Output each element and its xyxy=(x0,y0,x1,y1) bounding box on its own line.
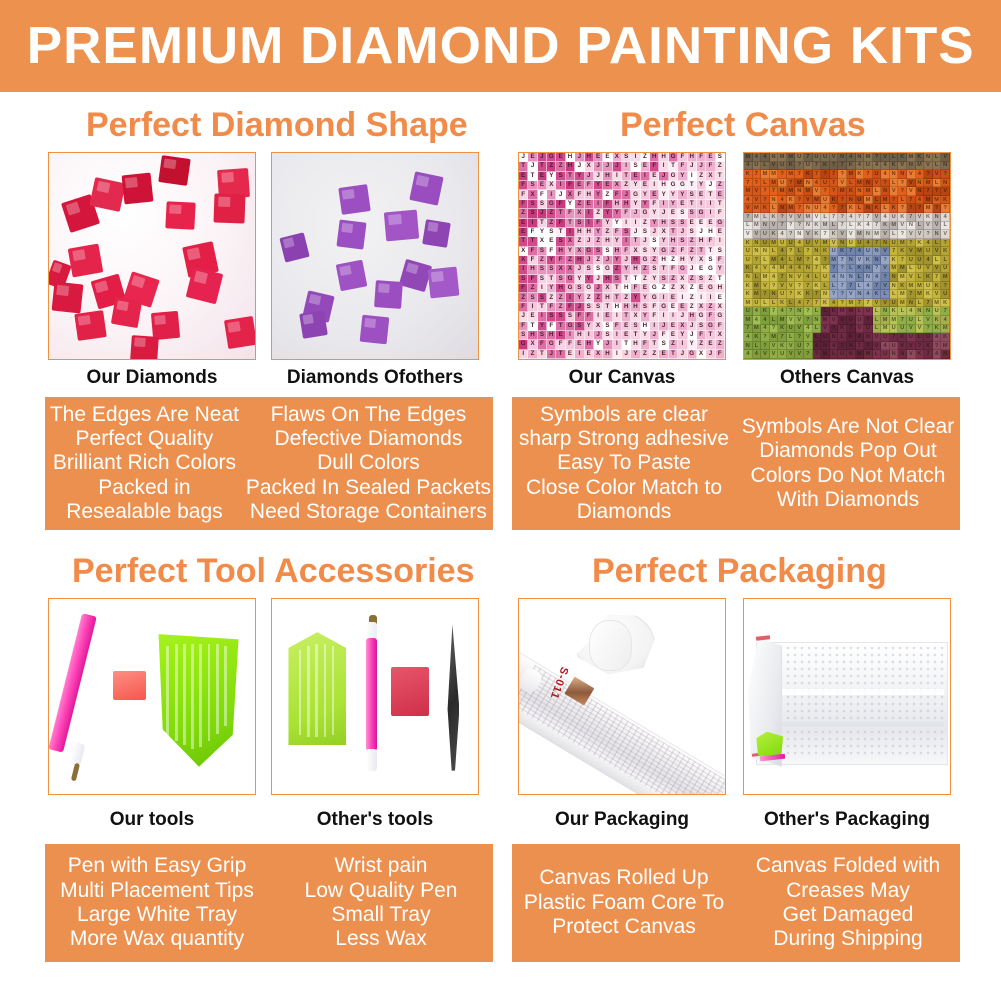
panel-column-ours: Pen with Easy Grip Multi Placement Tips … xyxy=(45,844,269,962)
panel-line: Brilliant Rich Colors xyxy=(53,451,236,475)
caption-our-diamonds: Our Diamonds xyxy=(48,368,256,387)
panel-line: Low Quality Pen xyxy=(305,879,458,903)
caption-others-tools: Other's tools xyxy=(271,810,479,829)
image-our-diamonds xyxy=(48,152,256,360)
panel-line: Symbols are clear xyxy=(540,403,708,427)
panel-line: Resealable bags xyxy=(66,500,222,524)
image-our-canvas: JEJGEHJHEEXSIZHHGFHFESTJTZZHJXJJJISEFITF… xyxy=(518,152,726,360)
panel-line: Plastic Foam Core To xyxy=(524,891,724,915)
panel-line: More Wax quantity xyxy=(70,927,244,951)
panel-line: Get Damaged xyxy=(783,903,914,927)
panel-column-ours: The Edges Are Neat Perfect Quality Brill… xyxy=(45,397,244,530)
panel-line: Defective Diamonds xyxy=(274,427,462,451)
panel-line: Less Wax xyxy=(335,927,426,951)
panel-line: Diamonds Pop Out xyxy=(759,439,936,463)
panel-column-ours: Canvas Rolled Up Plastic Foam Core To Pr… xyxy=(512,844,736,962)
image-others-canvas: M44NMMU7UUVN4NM?VLKMKNLV4ULVUK?U7K?7K4U4… xyxy=(743,152,951,360)
panel-line: Perfect Quality xyxy=(76,427,214,451)
panel-column-others: Wrist pain Low Quality Pen Small Tray Le… xyxy=(269,844,493,962)
panel-line: With Diamonds xyxy=(777,488,919,512)
panel-line: Pen with Easy Grip xyxy=(68,854,247,878)
panel-tool-accessories: Pen with Easy Grip Multi Placement Tips … xyxy=(45,844,493,962)
section-title-diamond-shape: Perfect Diamond Shape xyxy=(86,108,468,142)
panel-line: The Edges Are Neat xyxy=(50,403,239,427)
pink-symbol-grid-canvas-photo: JEJGEHJHEEXSIZHHGFHFESTJTZZHJXJJJISEFITF… xyxy=(519,153,725,359)
purple-diamond-drills-photo xyxy=(272,153,478,359)
panel-line: Packed in xyxy=(98,476,190,500)
section-title-tool-accessories: Perfect Tool Accessories xyxy=(72,554,475,588)
red-diamond-drills-photo xyxy=(49,153,255,359)
page-title: PREMIUM DIAMOND PAINTING KITS xyxy=(27,20,975,72)
others-packaging-photo xyxy=(744,599,950,794)
image-others-tools xyxy=(271,598,479,795)
panel-line: Canvas Rolled Up xyxy=(539,866,708,890)
panel-line: Need Storage Containers xyxy=(250,500,487,524)
caption-our-packaging: Our Packaging xyxy=(518,810,726,829)
caption-our-canvas: Our Canvas xyxy=(518,368,726,387)
image-our-packaging: S-011 xyxy=(518,598,726,795)
our-tools-photo xyxy=(49,599,255,794)
panel-line: Wrist pain xyxy=(335,854,428,878)
panel-line: Symbols Are Not Clear xyxy=(742,415,954,439)
panel-column-others: Flaws On The Edges Defective Diamonds Du… xyxy=(244,397,493,530)
panel-line: Packed In Sealed Packets xyxy=(246,476,491,500)
panel-canvas: Symbols are clear sharp Strong adhesive … xyxy=(512,397,960,530)
caption-others-diamonds: Diamonds Ofothers xyxy=(271,368,479,387)
panel-line: Close Color Match to xyxy=(526,476,722,500)
caption-others-packaging: Other's Packaging xyxy=(743,810,951,829)
panel-line: Protect Canvas xyxy=(552,915,696,939)
header-banner: PREMIUM DIAMOND PAINTING KITS xyxy=(0,0,1001,92)
image-others-packaging xyxy=(743,598,951,795)
others-tools-photo xyxy=(272,599,478,794)
section-title-packaging: Perfect Packaging xyxy=(592,554,887,588)
our-packaging-photo: S-011 xyxy=(519,599,725,794)
panel-line: Large White Tray xyxy=(77,903,237,927)
panel-line: Easy To Paste xyxy=(557,451,691,475)
panel-line: Creases May xyxy=(786,879,910,903)
image-others-diamonds xyxy=(271,152,479,360)
panel-packaging: Canvas Rolled Up Plastic Foam Core To Pr… xyxy=(512,844,960,962)
panel-line: During Shipping xyxy=(773,927,922,951)
panel-line: Dull Colors xyxy=(317,451,420,475)
muddy-multicolor-canvas-photo: M44NMMU7UUVN4NM?VLKMKNLV4ULVUK?U7K?7K4U4… xyxy=(744,153,950,359)
panel-line: sharp Strong adhesive xyxy=(519,427,729,451)
caption-others-canvas: Others Canvas xyxy=(743,368,951,387)
panel-line: Canvas Folded with xyxy=(756,854,940,878)
panel-line: Flaws On The Edges xyxy=(271,403,467,427)
panel-line: Small Tray xyxy=(331,903,430,927)
panel-line: Diamonds xyxy=(577,500,672,524)
section-title-canvas: Perfect Canvas xyxy=(620,108,866,142)
panel-column-others: Canvas Folded with Creases May Get Damag… xyxy=(736,844,960,962)
panel-column-ours: Symbols are clear sharp Strong adhesive … xyxy=(512,397,736,530)
panel-column-others: Symbols Are Not Clear Diamonds Pop Out C… xyxy=(736,397,960,530)
panel-diamond-shape: The Edges Are Neat Perfect Quality Brill… xyxy=(45,397,493,530)
caption-our-tools: Our tools xyxy=(48,810,256,829)
panel-line: Multi Placement Tips xyxy=(60,879,254,903)
panel-line: Colors Do Not Match xyxy=(751,464,946,488)
image-our-tools xyxy=(48,598,256,795)
